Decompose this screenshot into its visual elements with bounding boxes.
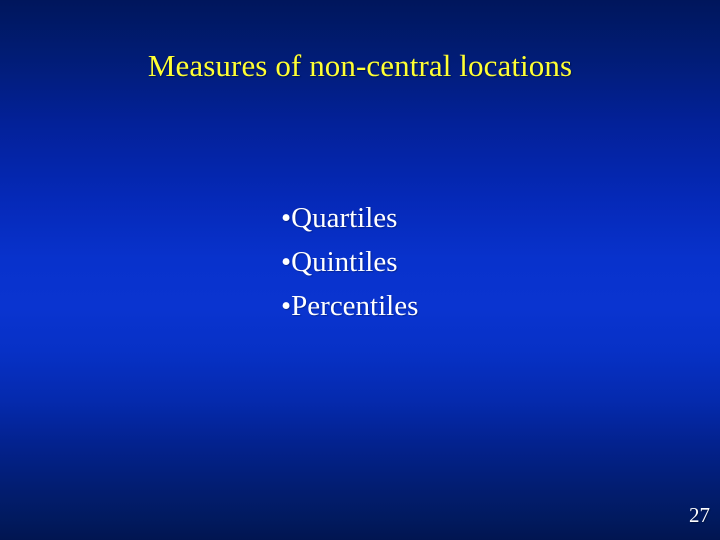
- presentation-slide: Measures of non-central locations •Quart…: [0, 0, 720, 540]
- list-item: •Percentiles: [281, 284, 418, 328]
- list-item-label: Quartiles: [291, 196, 397, 240]
- bullet-point-icon: •: [281, 284, 291, 328]
- bullet-point-icon: •: [281, 196, 291, 240]
- list-item: •Quintiles: [281, 240, 418, 284]
- bullet-point-icon: •: [281, 240, 291, 284]
- list-item: •Quartiles: [281, 196, 418, 240]
- list-item-label: Quintiles: [291, 240, 397, 284]
- list-item-label: Percentiles: [291, 284, 418, 328]
- slide-page-number: 27: [689, 505, 710, 526]
- slide-title: Measures of non-central locations: [78, 47, 642, 85]
- bullet-list: •Quartiles •Quintiles •Percentiles: [281, 196, 418, 328]
